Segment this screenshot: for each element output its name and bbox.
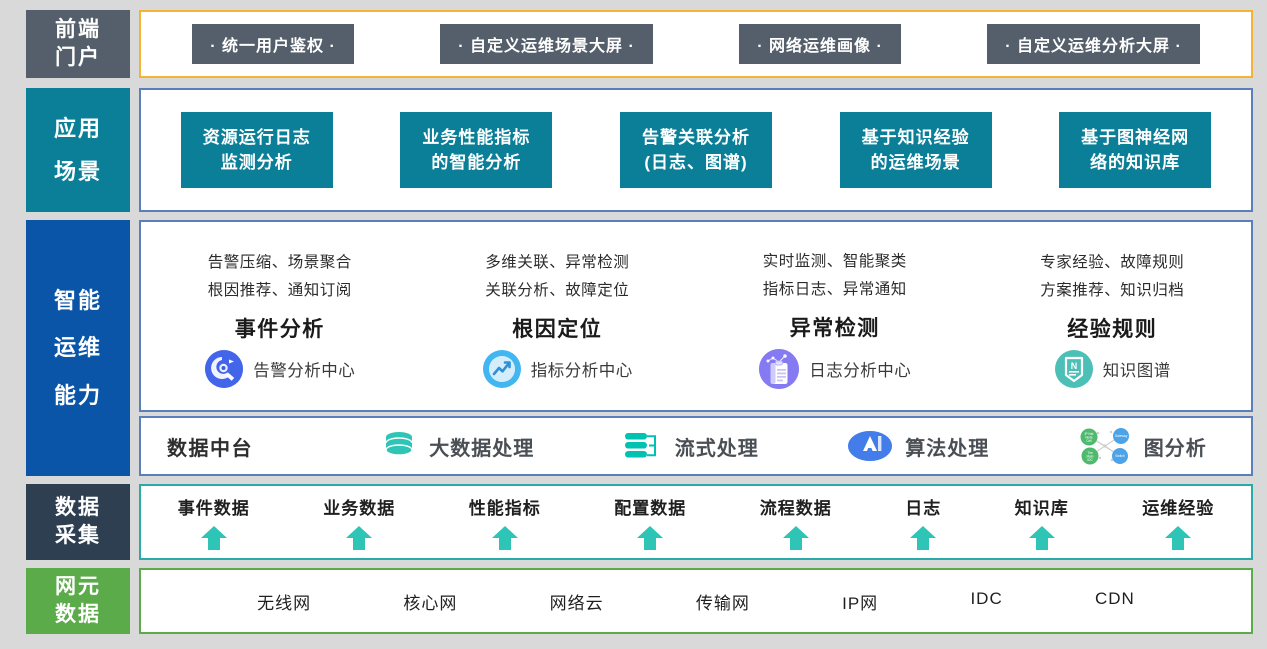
svg-text:Switch: Switch xyxy=(1115,454,1125,458)
ops-column-event-analysis: 告警压缩、场景聚合 根因推荐、通知订阅 事件分析 xyxy=(141,222,419,410)
ops-column-root-cause: 多维关联、异常检测 关联分析、故障定位 根因定位 指标分析中心 xyxy=(419,222,697,410)
network-element-item[interactable]: 核心网 xyxy=(403,589,457,614)
ops-icon-row[interactable]: 指标分析中心 xyxy=(482,349,633,389)
row-label-line: 应用 xyxy=(54,114,102,143)
intelligent-ops-columns: 告警压缩、场景聚合 根因推荐、通知订阅 事件分析 xyxy=(141,222,1251,410)
stream-icon xyxy=(623,429,663,463)
collection-item[interactable]: 运维经验 xyxy=(1142,494,1214,551)
up-arrow-icon xyxy=(632,525,668,551)
ops-icon-label: 指标分析中心 xyxy=(531,357,633,381)
ops-icon-row[interactable]: 告警分析中心 xyxy=(204,349,355,389)
data-platform-panel: 数据中台 大数据处理 xyxy=(139,416,1253,476)
network-element-item[interactable]: IDC xyxy=(970,589,1002,614)
intelligent-ops-panel: 告警压缩、场景聚合 根因推荐、通知订阅 事件分析 xyxy=(139,220,1253,412)
up-arrow-icon xyxy=(778,525,814,551)
front-portal-items: · 统一用户鉴权 · · 自定义运维场景大屏 · · 网络运维画像 · · 自定… xyxy=(141,24,1251,64)
row-label-line: 智能 xyxy=(54,286,102,315)
collection-item-label: 运维经验 xyxy=(1142,494,1214,519)
portal-chip[interactable]: · 自定义运维分析大屏 · xyxy=(987,24,1200,64)
graph-network-icon: IP NetNodeCell Gateway TheMainIDC Switch xyxy=(1078,426,1132,466)
row-label-line: 运维 xyxy=(54,333,102,362)
alarm-analysis-icon xyxy=(204,349,244,389)
application-chip-line: 基于知识经验 xyxy=(862,125,970,151)
row-label-intelligent-ops: 智能 运维 能力 xyxy=(26,220,130,476)
database-icon xyxy=(381,430,417,462)
data-platform-item-algorithm[interactable]: 算法处理 xyxy=(847,429,989,463)
data-platform-item-label: 流式处理 xyxy=(675,432,759,461)
svg-text:IDC: IDC xyxy=(1087,458,1093,462)
network-element-item[interactable]: IP网 xyxy=(842,589,878,614)
row-label-line: 能力 xyxy=(54,381,102,410)
ops-desc-line: 指标日志、异常通知 xyxy=(763,276,907,304)
row-label-data-collection: 数据 采集 xyxy=(26,484,130,560)
ops-column-anomaly-detection: 实时监测、智能聚类 指标日志、异常通知 异常检测 xyxy=(696,222,974,410)
svg-text:Gateway: Gateway xyxy=(1114,434,1127,438)
ops-desc: 多维关联、异常检测 关联分析、故障定位 xyxy=(485,249,629,304)
network-element-items: 无线网 核心网 网络云 传输网 IP网 IDC CDN xyxy=(141,589,1251,614)
application-chip-line: 监测分析 xyxy=(221,150,293,176)
ops-column-title: 根因定位 xyxy=(512,313,602,343)
ops-column-title: 事件分析 xyxy=(235,313,325,343)
application-chip-line: 告警关联分析 xyxy=(642,125,750,151)
data-platform-item-label: 图分析 xyxy=(1144,432,1207,461)
collection-item-label: 性能指标 xyxy=(469,494,541,519)
ops-desc-line: 专家经验、故障规则 xyxy=(1040,249,1184,277)
collection-item-label: 流程数据 xyxy=(760,494,832,519)
svg-text:Cell: Cell xyxy=(1086,439,1092,443)
collection-item[interactable]: 性能指标 xyxy=(469,494,541,551)
log-analysis-icon xyxy=(758,348,800,390)
collection-item[interactable]: 配置数据 xyxy=(614,494,686,551)
portal-chip[interactable]: · 自定义运维场景大屏 · xyxy=(440,24,653,64)
ops-column-experience-rules: 专家经验、故障规则 方案推荐、知识归档 经验规则 N 知识图谱 xyxy=(974,222,1252,410)
row-label-front-portal: 前端 门户 xyxy=(26,10,130,78)
ops-desc: 专家经验、故障规则 方案推荐、知识归档 xyxy=(1040,249,1184,304)
network-element-item[interactable]: 无线网 xyxy=(257,589,311,614)
collection-item-label: 知识库 xyxy=(1015,494,1069,519)
application-chip[interactable]: 基于图神经网 络的知识库 xyxy=(1059,112,1211,188)
application-chip-line: 业务性能指标 xyxy=(422,125,530,151)
application-chip-line: 络的知识库 xyxy=(1090,150,1180,176)
metric-analysis-icon xyxy=(482,349,522,389)
row-label-line: 数据 xyxy=(55,601,101,629)
collection-item-label: 事件数据 xyxy=(178,494,250,519)
application-chip-line: 的运维场景 xyxy=(871,150,961,176)
ai-icon xyxy=(847,429,893,463)
ops-column-title: 经验规则 xyxy=(1067,313,1157,343)
data-platform-item-stream[interactable]: 流式处理 xyxy=(623,429,759,463)
row-label-application-scene: 应用 场景 xyxy=(26,88,130,212)
ops-desc-line: 关联分析、故障定位 xyxy=(485,277,629,305)
up-arrow-icon xyxy=(1024,525,1060,551)
collection-item-label: 配置数据 xyxy=(614,494,686,519)
data-collection-panel: 事件数据 业务数据 性能指标 配置数据 流程数据 日志 xyxy=(139,484,1253,560)
row-label-line: 采集 xyxy=(55,522,101,550)
application-chip[interactable]: 资源运行日志 监测分析 xyxy=(181,112,333,188)
application-chip[interactable]: 业务性能指标 的智能分析 xyxy=(400,112,552,188)
collection-item[interactable]: 事件数据 xyxy=(178,494,250,551)
knowledge-graph-icon: N xyxy=(1054,349,1094,389)
row-label-line: 门户 xyxy=(55,44,101,72)
row-label-line: 数据 xyxy=(55,494,101,522)
ops-icon-label: 知识图谱 xyxy=(1103,357,1171,381)
ops-icon-row[interactable]: N 知识图谱 xyxy=(1054,349,1171,389)
application-chip-line: 资源运行日志 xyxy=(203,125,311,151)
ops-desc-line: 方案推荐、知识归档 xyxy=(1040,277,1184,305)
application-scene-panel: 资源运行日志 监测分析 业务性能指标 的智能分析 告警关联分析 (日志、图谱) … xyxy=(139,88,1253,212)
data-platform-item-bigdata[interactable]: 大数据处理 xyxy=(381,430,534,462)
ops-desc-line: 实时监测、智能聚类 xyxy=(763,248,907,276)
front-portal-panel: · 统一用户鉴权 · · 自定义运维场景大屏 · · 网络运维画像 · · 自定… xyxy=(139,10,1253,78)
data-collection-items: 事件数据 业务数据 性能指标 配置数据 流程数据 日志 xyxy=(141,494,1251,551)
application-chip-line: 的智能分析 xyxy=(431,150,521,176)
ops-icon-label: 日志分析中心 xyxy=(809,357,911,381)
svg-text:N: N xyxy=(1071,361,1078,371)
up-arrow-icon xyxy=(487,525,523,551)
up-arrow-icon xyxy=(341,525,377,551)
up-arrow-icon xyxy=(196,525,232,551)
ops-desc-line: 根因推荐、通知订阅 xyxy=(208,277,352,305)
collection-item[interactable]: 流程数据 xyxy=(760,494,832,551)
application-chip-line: 基于图神经网 xyxy=(1081,125,1189,151)
network-element-item[interactable]: 网络云 xyxy=(550,589,604,614)
collection-item-label: 业务数据 xyxy=(323,494,395,519)
ops-desc: 实时监测、智能聚类 指标日志、异常通知 xyxy=(763,248,907,303)
application-chip-line: (日志、图谱) xyxy=(644,150,747,176)
portal-chip[interactable]: · 网络运维画像 · xyxy=(739,24,901,64)
ops-desc-line: 告警压缩、场景聚合 xyxy=(208,249,352,277)
data-platform-item-label: 大数据处理 xyxy=(429,432,534,461)
data-platform-items: 大数据处理 流式处理 xyxy=(337,426,1251,466)
portal-chip[interactable]: · 统一用户鉴权 · xyxy=(192,24,354,64)
network-element-item[interactable]: CDN xyxy=(1095,589,1135,614)
row-label-network-element-data: 网元 数据 xyxy=(26,568,130,634)
application-scene-items: 资源运行日志 监测分析 业务性能指标 的智能分析 告警关联分析 (日志、图谱) … xyxy=(141,112,1251,188)
up-arrow-icon xyxy=(1160,525,1196,551)
collection-item[interactable]: 日志 xyxy=(905,494,941,551)
application-chip[interactable]: 告警关联分析 (日志、图谱) xyxy=(620,112,772,188)
data-platform-item-label: 算法处理 xyxy=(905,432,989,461)
application-chip[interactable]: 基于知识经验 的运维场景 xyxy=(840,112,992,188)
row-label-line: 前端 xyxy=(55,16,101,44)
network-element-item[interactable]: 传输网 xyxy=(696,589,750,614)
network-element-panel: 无线网 核心网 网络云 传输网 IP网 IDC CDN xyxy=(139,568,1253,634)
data-platform-title: 数据中台 xyxy=(167,432,337,461)
ops-icon-row[interactable]: 日志分析中心 xyxy=(758,348,911,390)
row-label-line: 场景 xyxy=(54,157,102,186)
collection-item-label: 日志 xyxy=(905,494,941,519)
ops-column-title: 异常检测 xyxy=(790,312,880,342)
data-platform-inner: 数据中台 大数据处理 xyxy=(141,426,1251,466)
ops-desc: 告警压缩、场景聚合 根因推荐、通知订阅 xyxy=(208,249,352,304)
collection-item[interactable]: 知识库 xyxy=(1015,494,1069,551)
up-arrow-icon xyxy=(905,525,941,551)
architecture-diagram: 前端 门户 · 统一用户鉴权 · · 自定义运维场景大屏 · · 网络运维画像 … xyxy=(0,0,1267,649)
data-platform-item-graph[interactable]: IP NetNodeCell Gateway TheMainIDC Switch… xyxy=(1078,426,1207,466)
ops-desc-line: 多维关联、异常检测 xyxy=(485,249,629,277)
ops-icon-label: 告警分析中心 xyxy=(253,357,355,381)
row-label-line: 网元 xyxy=(55,573,101,601)
collection-item[interactable]: 业务数据 xyxy=(323,494,395,551)
